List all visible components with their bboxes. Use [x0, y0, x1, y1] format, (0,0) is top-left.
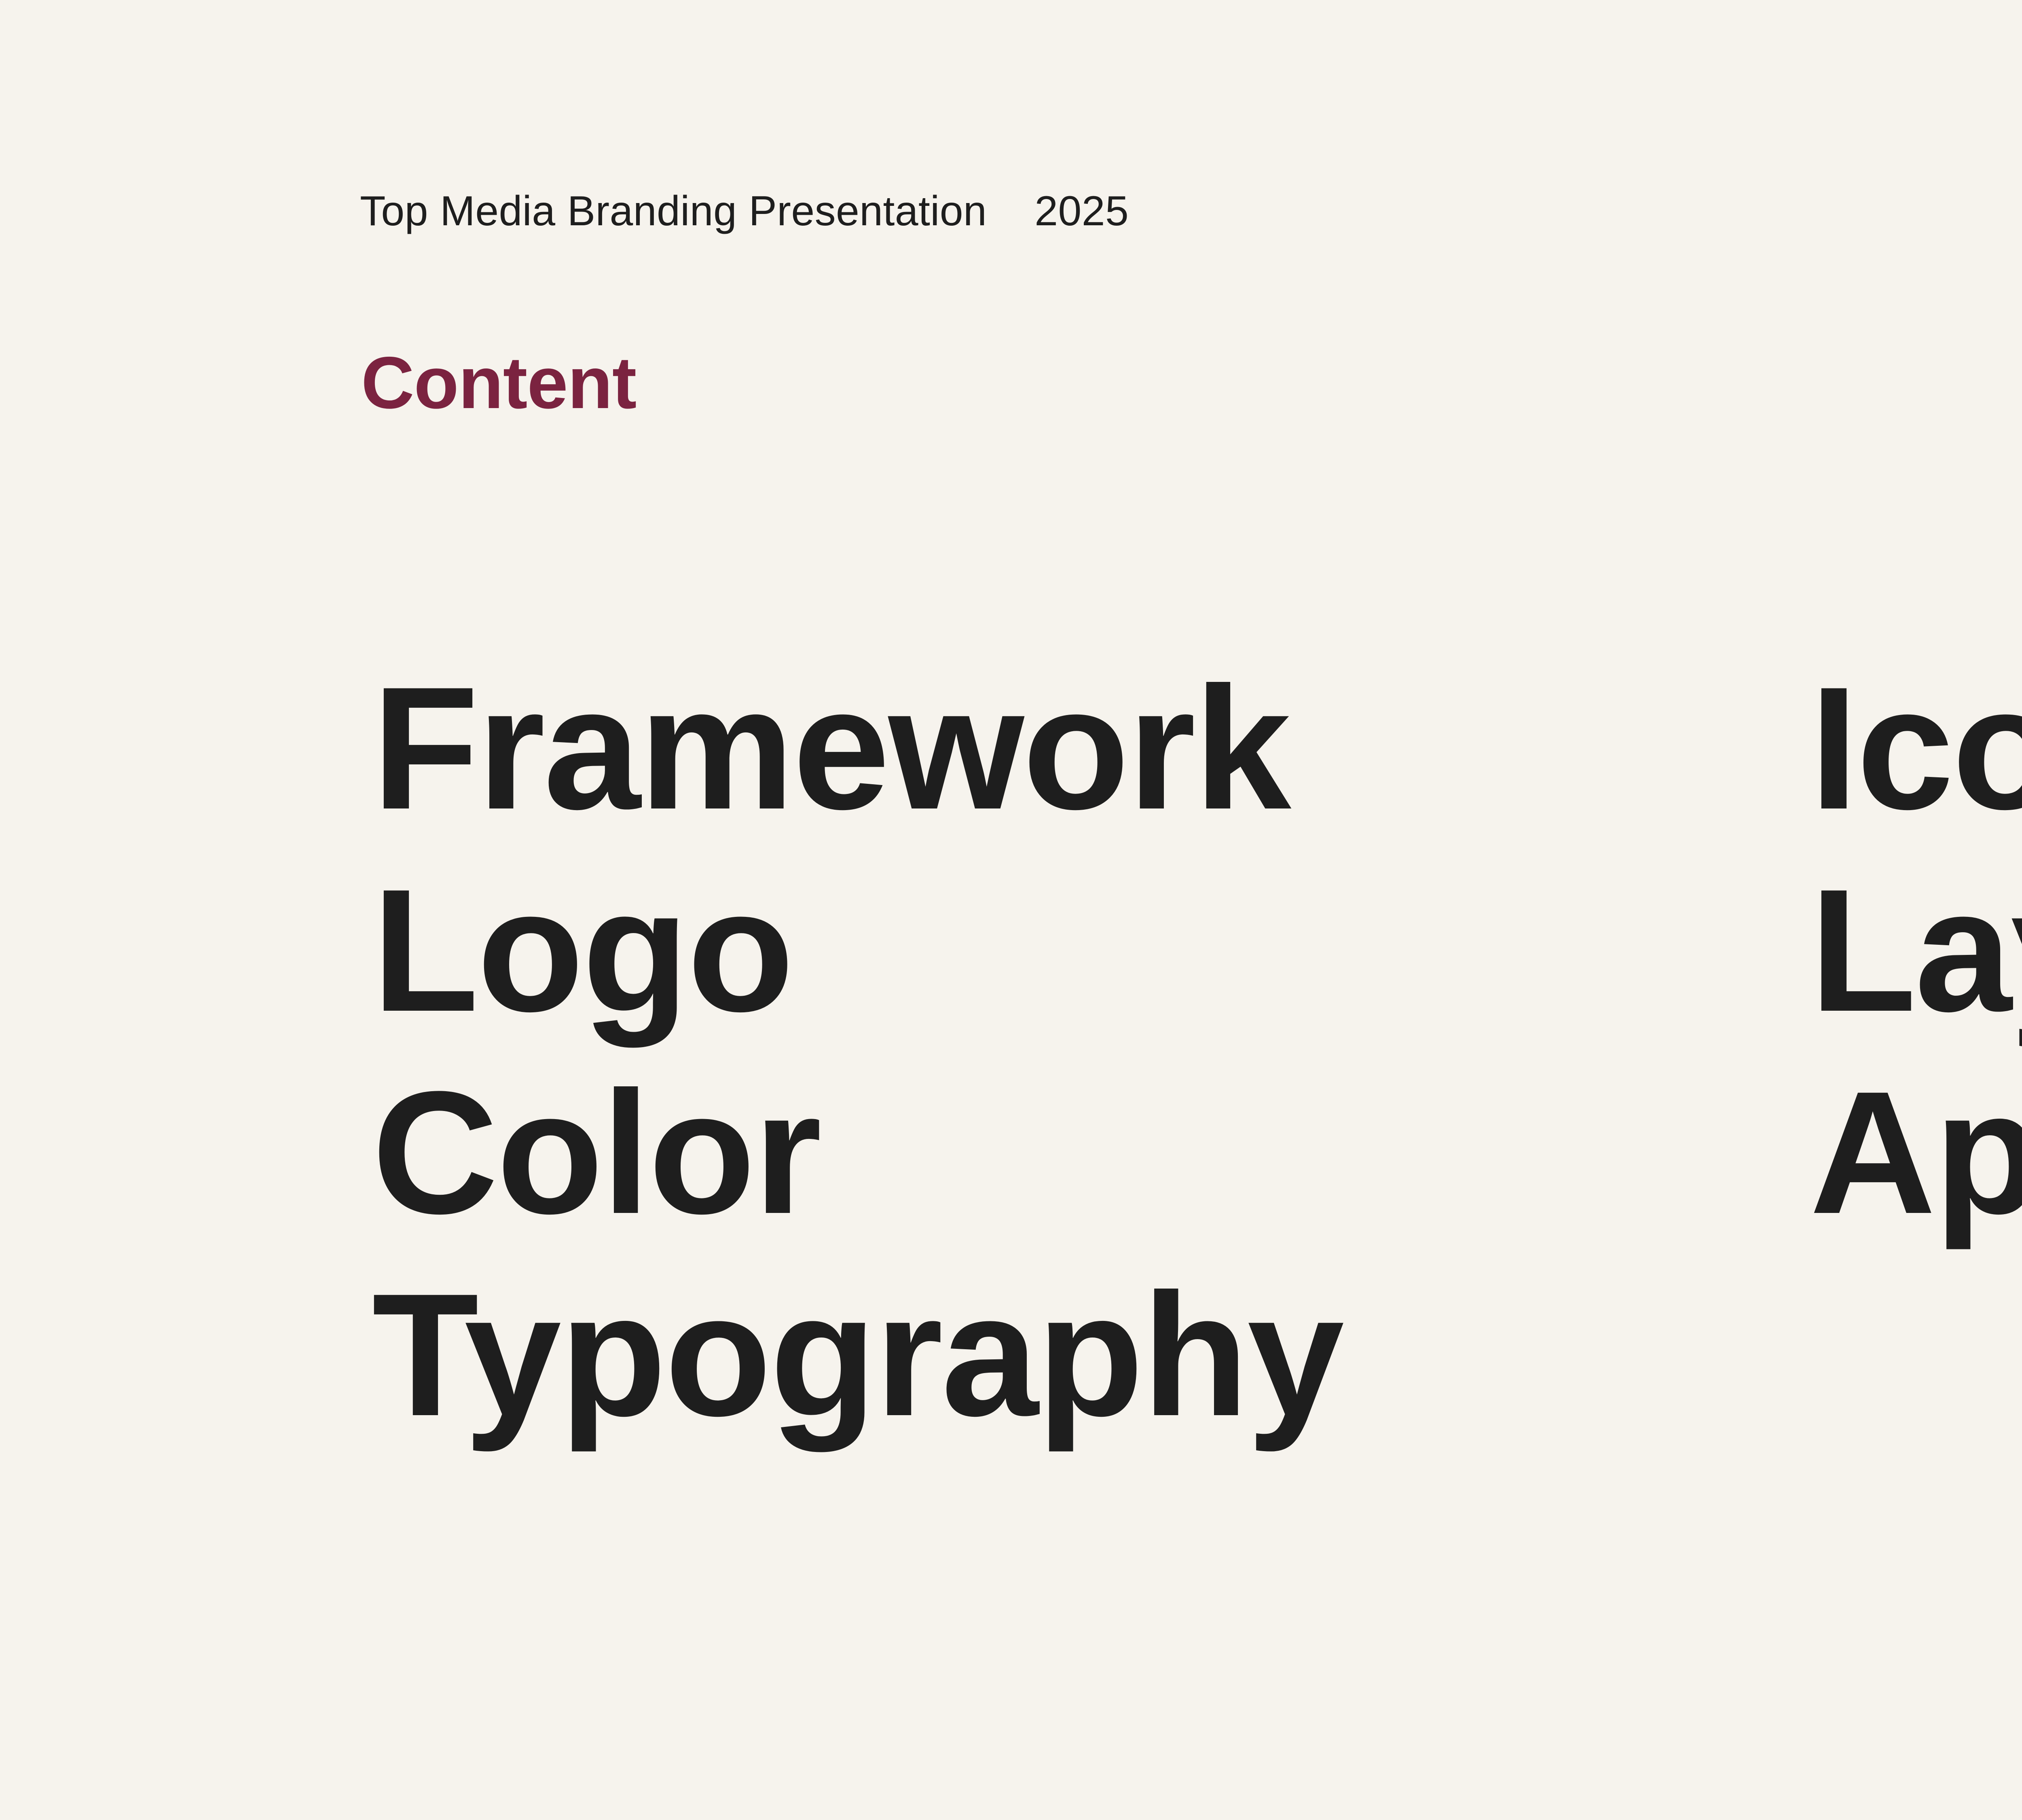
deck-title: Top Media Branding Presentation	[360, 190, 987, 232]
content-columns: Framework Logo Color Typography Icons La…	[0, 647, 2022, 1577]
presentation-slide: Top Media Branding Presentation 2025 Con…	[0, 0, 2022, 1820]
section-label: Content	[361, 346, 636, 419]
content-item-icons[interactable]: Icons	[1810, 647, 2022, 849]
content-item-layout[interactable]: Layout	[1810, 849, 2022, 1052]
content-item-applications[interactable]: Applications	[1810, 1052, 2022, 1254]
content-item-color[interactable]: Color	[372, 1052, 1343, 1254]
content-item-typography[interactable]: Typography	[372, 1254, 1343, 1456]
right-column: Icons Layout Applications	[1810, 647, 2022, 1254]
content-item-logo[interactable]: Logo	[372, 849, 1343, 1052]
left-column: Framework Logo Color Typography	[372, 647, 1343, 1456]
slide-header: Top Media Branding Presentation 2025	[360, 190, 1129, 232]
content-item-framework[interactable]: Framework	[372, 647, 1343, 849]
deck-year: 2025	[1034, 190, 1129, 232]
